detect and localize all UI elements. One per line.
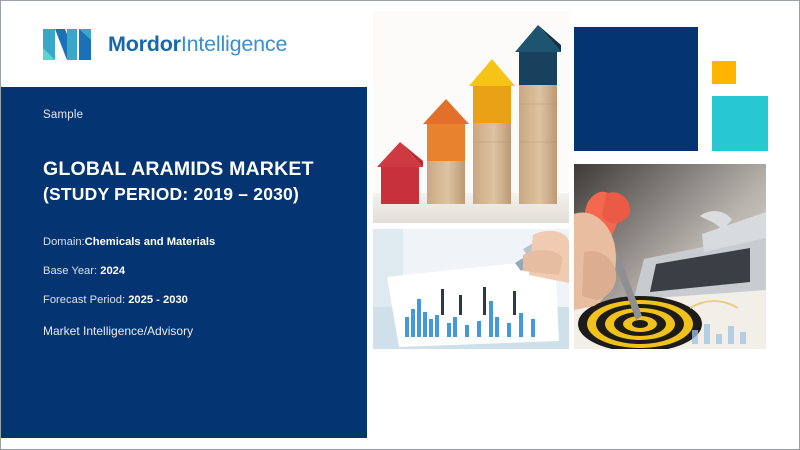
report-title: GLOBAL ARAMIDS MARKET xyxy=(43,157,337,183)
photo-dart-target xyxy=(574,164,766,349)
meta-value-base-year: 2024 xyxy=(100,265,125,277)
meta-row-forecast-period: Forecast Period: 2025 - 2030 xyxy=(43,294,337,306)
page-title: GLOBAL ARAMIDS MARKET (STUDY PERIOD: 201… xyxy=(43,157,337,206)
meta-label-domain: Domain: xyxy=(43,236,85,248)
photo-wooden-block-houses xyxy=(373,11,569,223)
photo-chart-report xyxy=(373,229,569,349)
decorative-square-navy xyxy=(574,27,698,151)
decorative-square-cyan xyxy=(712,96,768,151)
brand-name: MordorIntelligence xyxy=(108,32,287,57)
advisory-label: Market Intelligence/Advisory xyxy=(43,324,337,338)
brand-name-bold: Mordor xyxy=(108,32,181,56)
brand-name-light: Intelligence xyxy=(181,32,287,56)
wooden-block-houses-illustration xyxy=(373,11,569,223)
meta-row-base-year: Base Year: 2024 xyxy=(43,265,337,277)
report-study-period: (STUDY PERIOD: 2019 – 2030) xyxy=(43,183,337,206)
mordor-m-logo-icon xyxy=(43,28,97,61)
media-collage: +1 617 765 2493 info@mordorintelligence.… xyxy=(367,1,800,450)
brand-logo[interactable]: MordorIntelligence xyxy=(43,28,287,61)
meta-label-forecast-period: Forecast Period: xyxy=(43,294,125,306)
meta-row-domain: Domain:Chemicals and Materials xyxy=(43,236,337,248)
sample-label: Sample xyxy=(43,109,337,121)
chart-report-illustration xyxy=(373,229,569,349)
report-cover-page: MordorIntelligence Sample GLOBAL ARAMIDS… xyxy=(0,0,800,450)
report-meta-list: Domain:Chemicals and Materials Base Year… xyxy=(43,236,337,307)
cover-info-panel: Sample GLOBAL ARAMIDS MARKET (STUDY PERI… xyxy=(1,87,367,438)
meta-value-domain: Chemicals and Materials xyxy=(85,236,216,248)
decorative-square-amber xyxy=(712,61,736,84)
dart-target-illustration xyxy=(574,164,766,349)
meta-label-base-year: Base Year: xyxy=(43,265,97,277)
meta-value-forecast-period: 2025 - 2030 xyxy=(128,294,188,306)
logo-bar: MordorIntelligence xyxy=(1,1,367,87)
